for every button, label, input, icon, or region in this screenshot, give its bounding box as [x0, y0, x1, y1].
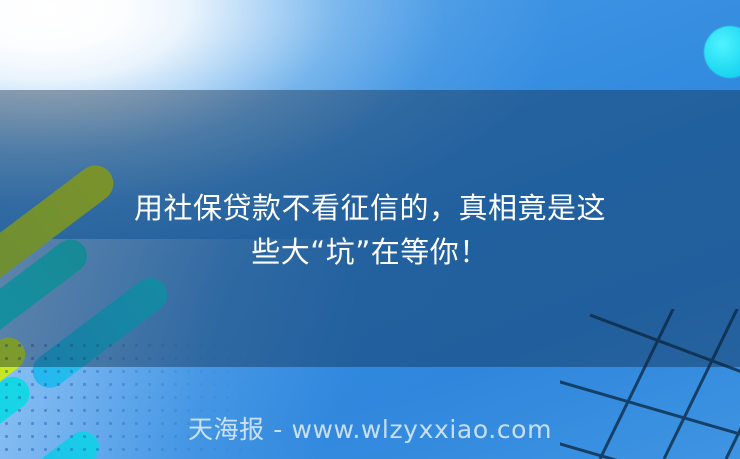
page-title: 用社保贷款不看征信的，真相竟是这 些大“坑”在等你！ [40, 186, 700, 274]
title-line-1: 用社保贷款不看征信的，真相竟是这 [134, 191, 606, 225]
poster-title-block: 用社保贷款不看征信的，真相竟是这 些大“坑”在等你！ [0, 186, 740, 274]
watermark-text: 天海报 - www.wlzyxxiao.com [0, 410, 740, 446]
title-line-2: 些大“坑”在等你！ [251, 235, 489, 269]
poster-image: 用社保贷款不看征信的，真相竟是这 些大“坑”在等你！ 天海报 - www.wlz… [0, 0, 740, 459]
